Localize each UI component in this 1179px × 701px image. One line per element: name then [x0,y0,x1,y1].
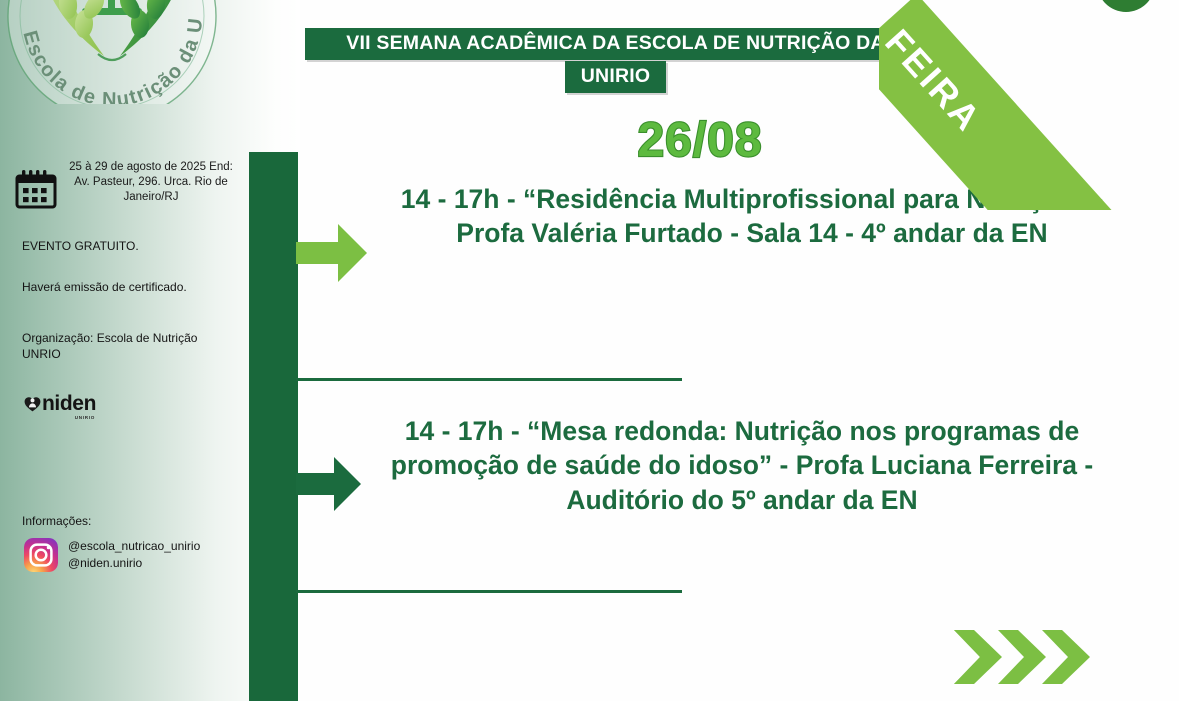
free-event-note: EVENTO GRATUITO. [22,238,232,254]
triple-chevron-right-icon [952,628,1102,686]
niden-wordmark: niden UNIRIO [42,393,96,414]
page-title-line2: UNIRIO [565,61,666,93]
instagram-handle-escola[interactable]: @escola_nutricao_unirio [68,539,200,553]
event-description-2: 14 - 17h - “Mesa redonda: Nutrição nos p… [366,414,1118,517]
right-arrow-icon [296,455,362,513]
calendar-icon [14,168,58,212]
certificate-note: Haverá emissão de certificado. [22,279,232,295]
timeline-vertical-bar [249,152,298,701]
page-title: VII SEMANA ACADÊMICA DA ESCOLA DE NUTRIÇ… [305,28,926,93]
instagram-handle-niden[interactable]: @niden.unirio [68,556,142,570]
poster-canvas: Escola de Nutrição da Unirio [0,0,1179,701]
event-description-1: 14 - 17h - “Residência Multiprofissional… [372,182,1132,251]
niden-sub-text: UNIRIO [75,416,95,421]
instagram-handles: @escola_nutricao_unirio @niden.unirio [68,538,200,571]
escola-de-nutricao-seal-icon: Escola de Nutrição da Unirio [0,0,238,104]
event-dates-row: 25 à 29 de agosto de 2025 End: Av. Paste… [14,160,236,212]
ribbon-dark-accent [1097,0,1155,12]
instagram-row[interactable]: @escola_nutricao_unirio @niden.unirio [24,538,200,572]
niden-word-text: niden [42,392,96,415]
section-divider-1 [296,378,682,381]
niden-logo: niden UNIRIO [24,393,96,414]
event-dates-text: 25 à 29 de agosto de 2025 End: Av. Paste… [66,160,236,206]
organization-note: Organização: Escola de Nutrição UNRIO [22,330,232,362]
page-title-line1: VII SEMANA ACADÊMICA DA ESCOLA DE NUTRIÇ… [305,28,926,60]
niden-mark-icon [24,395,41,412]
instagram-icon[interactable] [24,538,58,572]
date-heading: 26/08 [300,116,1100,166]
section-divider-2 [296,590,682,593]
info-label: Informações: [22,514,91,528]
right-arrow-icon [296,222,368,284]
